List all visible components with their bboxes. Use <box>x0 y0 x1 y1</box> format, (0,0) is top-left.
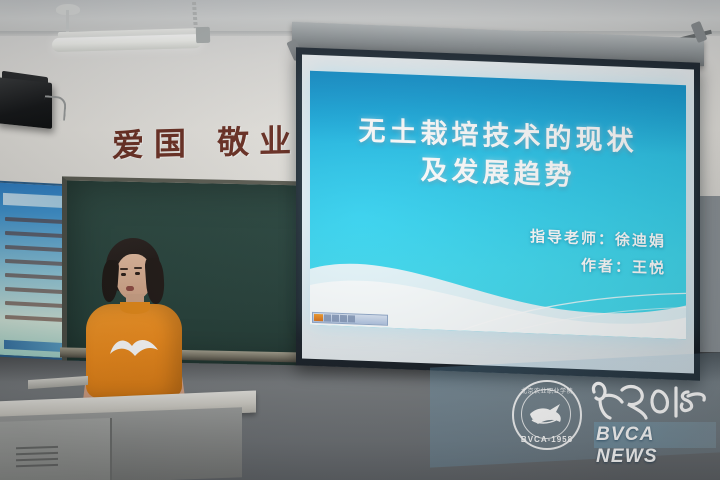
slide-title: 无土栽培技术的现状 及发展趋势 <box>310 111 686 200</box>
podium-front-panel <box>0 418 112 480</box>
speaker-bracket <box>43 95 67 120</box>
bvca-news-label: BVCA NEWS <box>596 424 714 468</box>
media-icon[interactable] <box>332 315 339 322</box>
ie-icon[interactable] <box>324 314 331 321</box>
seal-english-text: BVCA-1958 <box>514 435 580 444</box>
slide-advisor: 指导老师：徐迪娟 <box>530 223 666 255</box>
slide-credits: 指导老师：徐迪娟 作者：王悦 <box>530 223 666 282</box>
shirt-collar <box>120 302 150 314</box>
eye-right <box>135 272 140 275</box>
eye-left <box>121 273 126 276</box>
wall-banner-text: 爱国 敬业 <box>112 116 301 167</box>
seal-bird-emblem <box>526 398 566 430</box>
hair-side-left <box>101 259 120 302</box>
slide-author: 作者：王悦 <box>530 250 666 282</box>
bvca-seal-logo: 北京农业职业学院 BVCA-1958 <box>512 380 582 450</box>
eyebrow-right <box>134 267 142 269</box>
projected-slide: 无土栽培技术的现状 及发展趋势 指导老师：徐迪娟 作者：王悦 <box>310 71 686 339</box>
light-end-cap <box>196 27 210 43</box>
folder-icon[interactable] <box>340 315 347 322</box>
start-button-icon[interactable] <box>314 314 323 321</box>
eyebrow-left <box>120 268 128 270</box>
bvca-news-watermark: 北京农业职业学院 BVCA-1958 BVCA NEWS <box>508 378 714 456</box>
year-2018-dog-graphic <box>588 378 708 424</box>
app-icon[interactable] <box>348 315 355 322</box>
hair-side-right <box>144 257 165 304</box>
tshirt-seagull-logo <box>108 334 160 360</box>
classroom-photo-scene: 爱国 敬业 无土栽培技术的现状 及发展趋势 <box>0 0 720 480</box>
mouth <box>126 286 134 291</box>
